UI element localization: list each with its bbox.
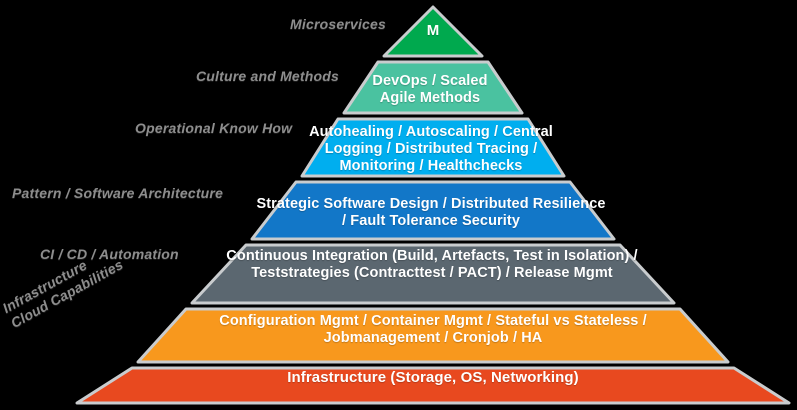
- side-label-operational-know-how: Operational Know How: [135, 120, 292, 137]
- pyramid-diagram: M DevOps / Scaled Agile Methods Autoheal…: [0, 0, 797, 410]
- tier-shape-ci-cd-automation[interactable]: [192, 245, 674, 303]
- tier-shape-operational-know-how[interactable]: [302, 119, 564, 176]
- tier-shape-culture-and-methods[interactable]: [344, 62, 522, 113]
- tier-shape-infrastructure-base[interactable]: [77, 368, 789, 403]
- tier-shape-microservices[interactable]: [384, 7, 482, 56]
- side-label-pattern-software-architecture: Pattern / Software Architecture: [12, 185, 223, 202]
- pyramid-shapes: [0, 0, 797, 410]
- side-label-culture-and-methods: Culture and Methods: [196, 68, 339, 85]
- tier-shape-infrastructure-cloud-capabilities[interactable]: [138, 309, 728, 362]
- side-label-microservices: Microservices: [290, 16, 386, 33]
- tier-shape-pattern-software-architecture[interactable]: [252, 182, 614, 239]
